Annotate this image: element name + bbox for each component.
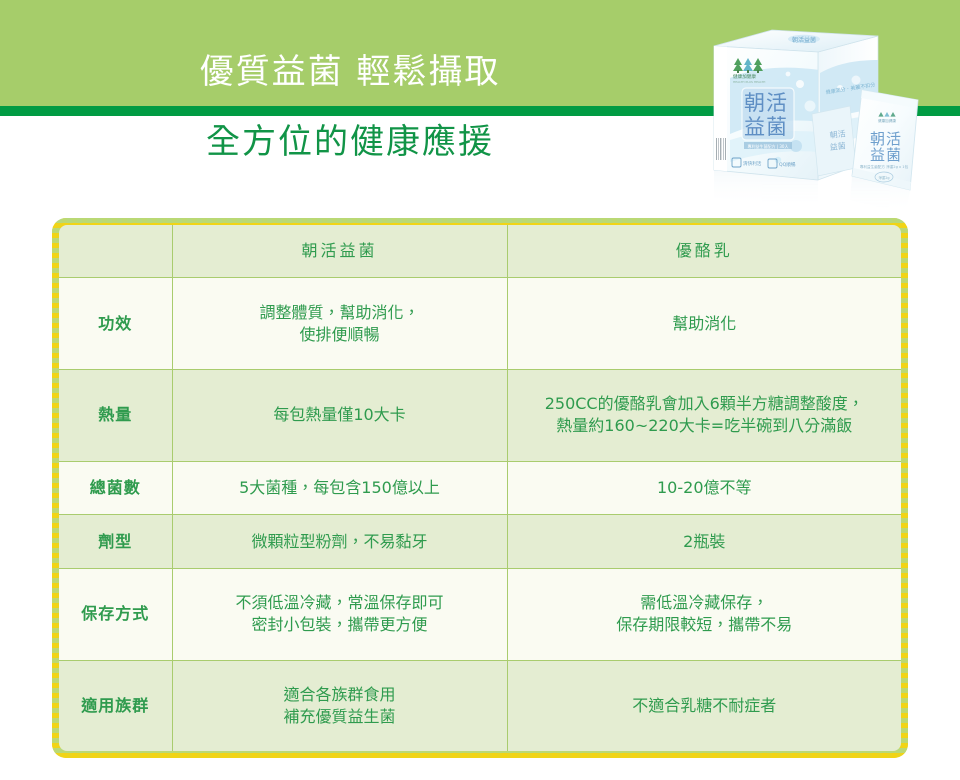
row-label-efficacy: 功效 [59,278,172,370]
cell-storage-a: 不須低溫冷藏，常溫保存即可 密封小包裝，攜帶更方便 [172,568,507,660]
comparison-table: 朝活益菌 優酪乳 功效 調整體質，幫助消化， 使排便順暢 幫助消化 熱量 [59,225,901,751]
header-cell-product-b: 優酪乳 [507,225,901,278]
product-sachet-illustration: 健康加健康 朝活 益菌 專利益生菌配方 淨重2g x 1包 淨重2g [852,90,918,190]
svg-text:朝活益菌: 朝活益菌 [792,36,816,44]
svg-text:HEALTH PLUS HEALTH: HEALTH PLUS HEALTH [733,80,765,84]
cell-storage-b: 需低溫冷藏保存， 保存期限較短，攜帶不易 [507,568,901,660]
svg-text:QQ順暢: QQ順暢 [779,161,796,168]
header-corner-cell [59,225,172,278]
promo-page: 優質益菌 輕鬆攝取 全方位的健康應援 [0,0,960,780]
table-row: 劑型 微顆粒型粉劑，不易黏牙 2瓶裝 [59,515,901,569]
svg-text:益菌: 益菌 [829,140,846,152]
comparison-table-container: 朝活益菌 優酪乳 功效 調整體質，幫助消化， 使排便順暢 幫助消化 熱量 [59,225,901,751]
headline-secondary: 全方位的健康應援 [0,122,700,162]
svg-text:健康加健康: 健康加健康 [878,118,896,123]
table-row: 總菌數 5大菌種，每包含150億以上 10-20億不等 [59,461,901,515]
table-row: 熱量 每包熱量僅10大卡 250CC的優酪乳會加入6顆半方糖調整酸度， 熱量約1… [59,369,901,461]
table-row: 適用族群 適合各族群食用 補充優質益生菌 不適合乳糖不耐症者 [59,660,901,751]
svg-text:淨重2g: 淨重2g [878,175,889,180]
svg-text:專利益生菌配方 | 30入: 專利益生菌配方 | 30入 [748,143,789,149]
svg-text:專利益生菌配方 淨重2g x 1包: 專利益生菌配方 淨重2g x 1包 [860,164,909,169]
product-photo: 健康滿分．美麗不扣分 朝活益菌 [700,18,960,218]
svg-text:朝活: 朝活 [829,128,846,140]
row-label-storage: 保存方式 [59,568,172,660]
cell-efficacy-b: 幫助消化 [507,278,901,370]
svg-text:益菌: 益菌 [744,115,788,139]
cell-calories-a: 每包熱量僅10大卡 [172,369,507,461]
table-header-row: 朝活益菌 優酪乳 [59,225,901,278]
cell-target-group-a: 適合各族群食用 補充優質益生菌 [172,660,507,751]
headline-primary: 優質益菌 輕鬆攝取 [0,52,700,92]
row-label-bacteria-count: 總菌數 [59,461,172,515]
svg-text:益菌: 益菌 [870,146,902,164]
cell-target-group-b: 不適合乳糖不耐症者 [507,660,901,751]
header-cell-product-a: 朝活益菌 [172,225,507,278]
svg-text:朝活: 朝活 [744,91,788,115]
row-label-dosage-form: 劑型 [59,515,172,569]
cell-dosage-form-a: 微顆粒型粉劑，不易黏牙 [172,515,507,569]
cell-bacteria-count-a: 5大菌種，每包含150億以上 [172,461,507,515]
cell-efficacy-a: 調整體質，幫助消化， 使排便順暢 [172,278,507,370]
table-row: 功效 調整體質，幫助消化， 使排便順暢 幫助消化 [59,278,901,370]
table-row: 保存方式 不須低溫冷藏，常溫保存即可 密封小包裝，攜帶更方便 需低溫冷藏保存， … [59,568,901,660]
cell-calories-b: 250CC的優酪乳會加入6顆半方糖調整酸度， 熱量約160~220大卡=吃半碗到… [507,369,901,461]
cell-dosage-form-b: 2瓶裝 [507,515,901,569]
svg-text:清快利活: 清快利活 [743,160,762,167]
svg-text:健康加健康: 健康加健康 [733,73,756,80]
row-label-target-group: 適用族群 [59,660,172,751]
cell-bacteria-count-b: 10-20億不等 [507,461,901,515]
product-box-illustration: 健康滿分．美麗不扣分 朝活益菌 [700,18,960,218]
row-label-calories: 熱量 [59,369,172,461]
